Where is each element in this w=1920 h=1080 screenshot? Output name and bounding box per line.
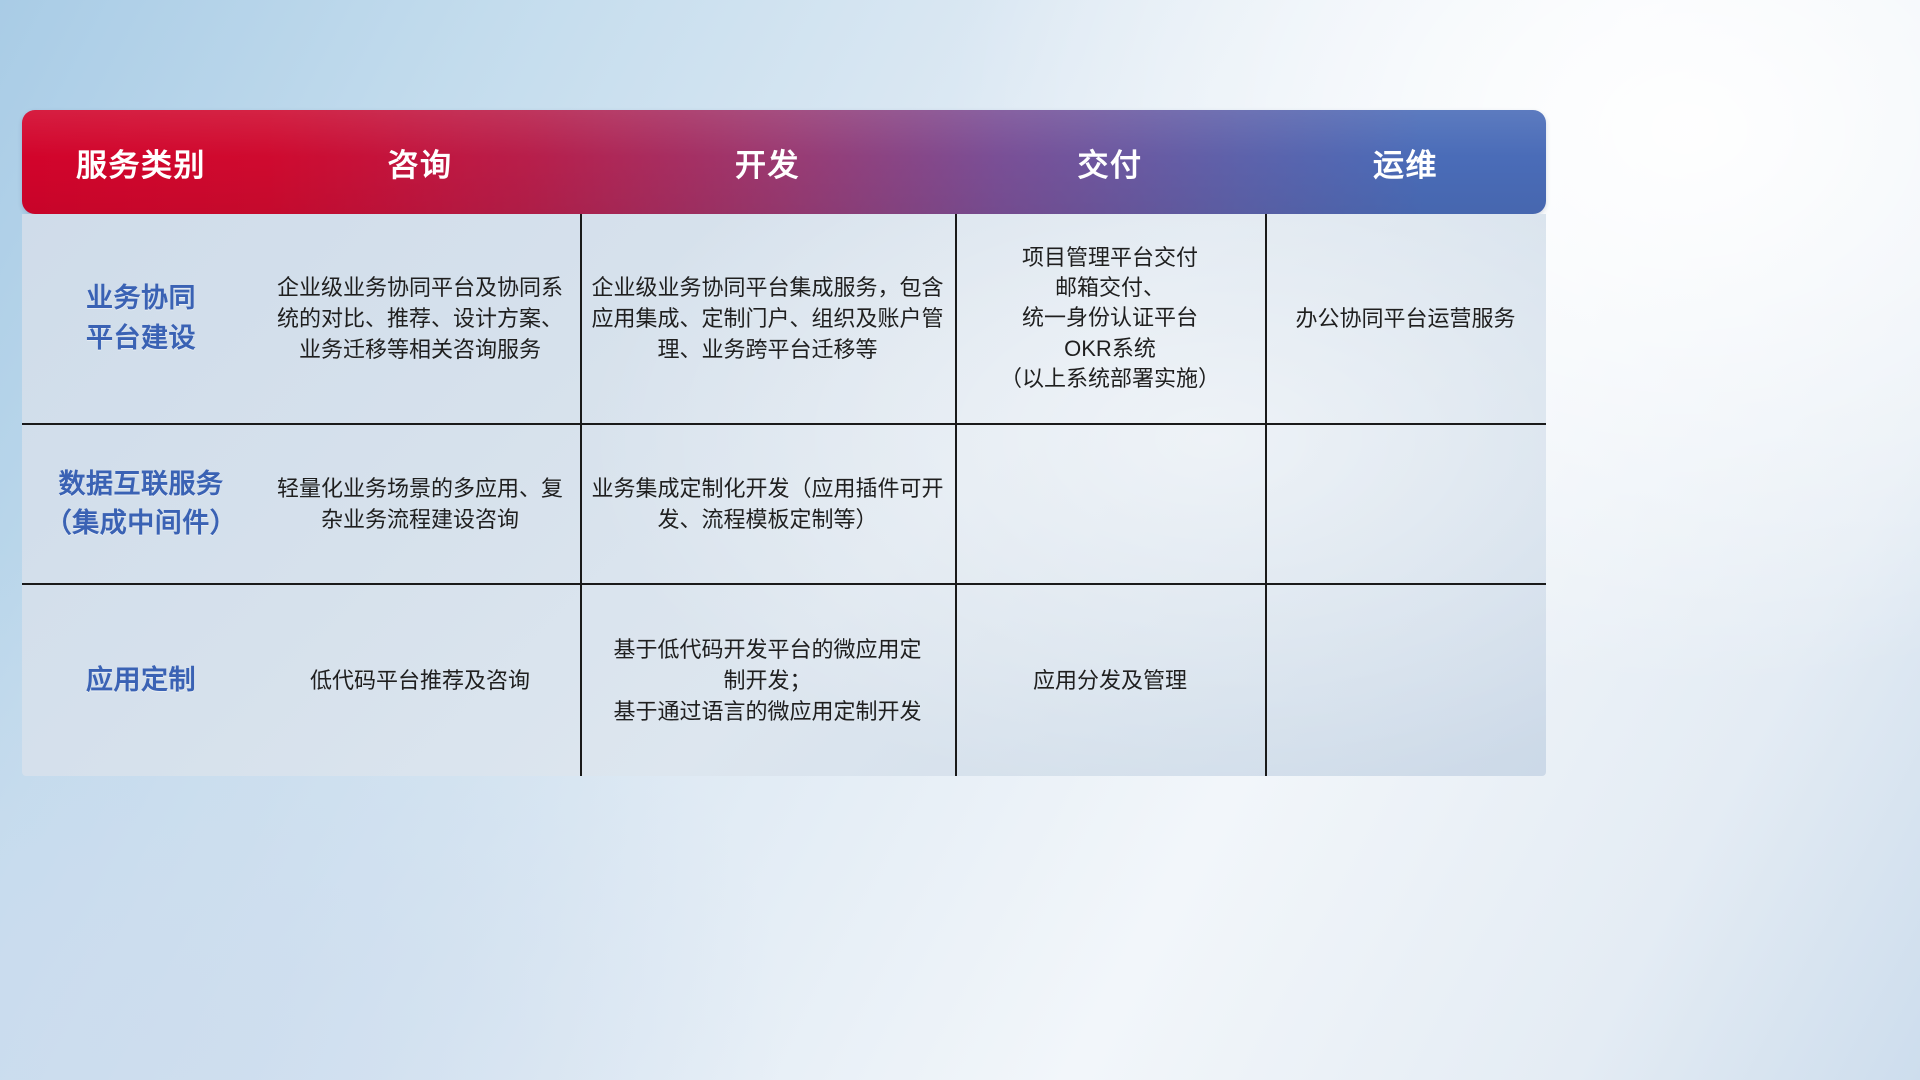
column-header-service-category: 服务类别 [22,140,260,185]
cell-consulting: 轻量化业务场景的多应用、复杂业务流程建设咨询 [260,425,580,583]
column-header-development: 开发 [580,140,955,185]
service-matrix-table: 服务类别 咨询 开发 交付 运维 业务协同 平台建设 企业级业务协同平台及协同系… [22,110,1546,776]
row-label: 业务协同 平台建设 [86,279,196,357]
cell-text: 轻量化业务场景的多应用、复杂业务流程建设咨询 [270,473,570,535]
cell-development: 基于低代码开发平台的微应用定 制开发； 基于通过语言的微应用定制开发 [580,585,955,776]
cell-development: 业务集成定制化开发（应用插件可开发、流程模板定制等） [580,425,955,583]
cell-delivery [955,425,1265,583]
cell-text: 基于低代码开发平台的微应用定 制开发； 基于通过语言的微应用定制开发 [613,634,921,728]
cell-development: 企业级业务协同平台集成服务，包含应用集成、定制门户、组织及账户管理、业务跨平台迁… [580,214,955,423]
cell-text: 业务集成定制化开发（应用插件可开发、流程模板定制等） [590,473,945,535]
row-label: 数据互联服务 （集成中间件） [45,465,238,543]
cell-operations: 办公协同平台运营服务 [1265,214,1546,423]
row-label: 应用定制 [86,661,196,700]
table-body: 业务协同 平台建设 企业级业务协同平台及协同系统的对比、推荐、设计方案、业务迁移… [22,214,1546,776]
row-label-cell: 业务协同 平台建设 [22,214,260,423]
cell-delivery: 应用分发及管理 [955,585,1265,776]
column-header-delivery: 交付 [955,140,1265,185]
column-header-operations: 运维 [1265,140,1546,185]
cell-operations [1265,425,1546,583]
cell-consulting: 企业级业务协同平台及协同系统的对比、推荐、设计方案、业务迁移等相关咨询服务 [260,214,580,423]
table-header-row: 服务类别 咨询 开发 交付 运维 [22,110,1546,214]
table-row: 数据互联服务 （集成中间件） 轻量化业务场景的多应用、复杂业务流程建设咨询 业务… [22,423,1546,583]
cell-text: 低代码平台推荐及咨询 [310,665,530,696]
row-label-cell: 数据互联服务 （集成中间件） [22,425,260,583]
table-row: 业务协同 平台建设 企业级业务协同平台及协同系统的对比、推荐、设计方案、业务迁移… [22,214,1546,423]
cell-text: 办公协同平台运营服务 [1295,303,1515,334]
column-header-consulting: 咨询 [260,140,580,185]
cell-consulting: 低代码平台推荐及咨询 [260,585,580,776]
cell-text: 应用分发及管理 [1033,665,1187,696]
table-row: 应用定制 低代码平台推荐及咨询 基于低代码开发平台的微应用定 制开发； 基于通过… [22,583,1546,776]
cell-text: 项目管理平台交付 邮箱交付、 统一身份认证平台 OKR系统 （以上系统部署实施） [1000,243,1220,395]
cell-operations [1265,585,1546,776]
row-label-cell: 应用定制 [22,585,260,776]
cell-text: 企业级业务协同平台集成服务，包含应用集成、定制门户、组织及账户管理、业务跨平台迁… [590,272,945,366]
cell-text: 企业级业务协同平台及协同系统的对比、推荐、设计方案、业务迁移等相关咨询服务 [270,272,570,366]
cell-delivery: 项目管理平台交付 邮箱交付、 统一身份认证平台 OKR系统 （以上系统部署实施） [955,214,1265,423]
